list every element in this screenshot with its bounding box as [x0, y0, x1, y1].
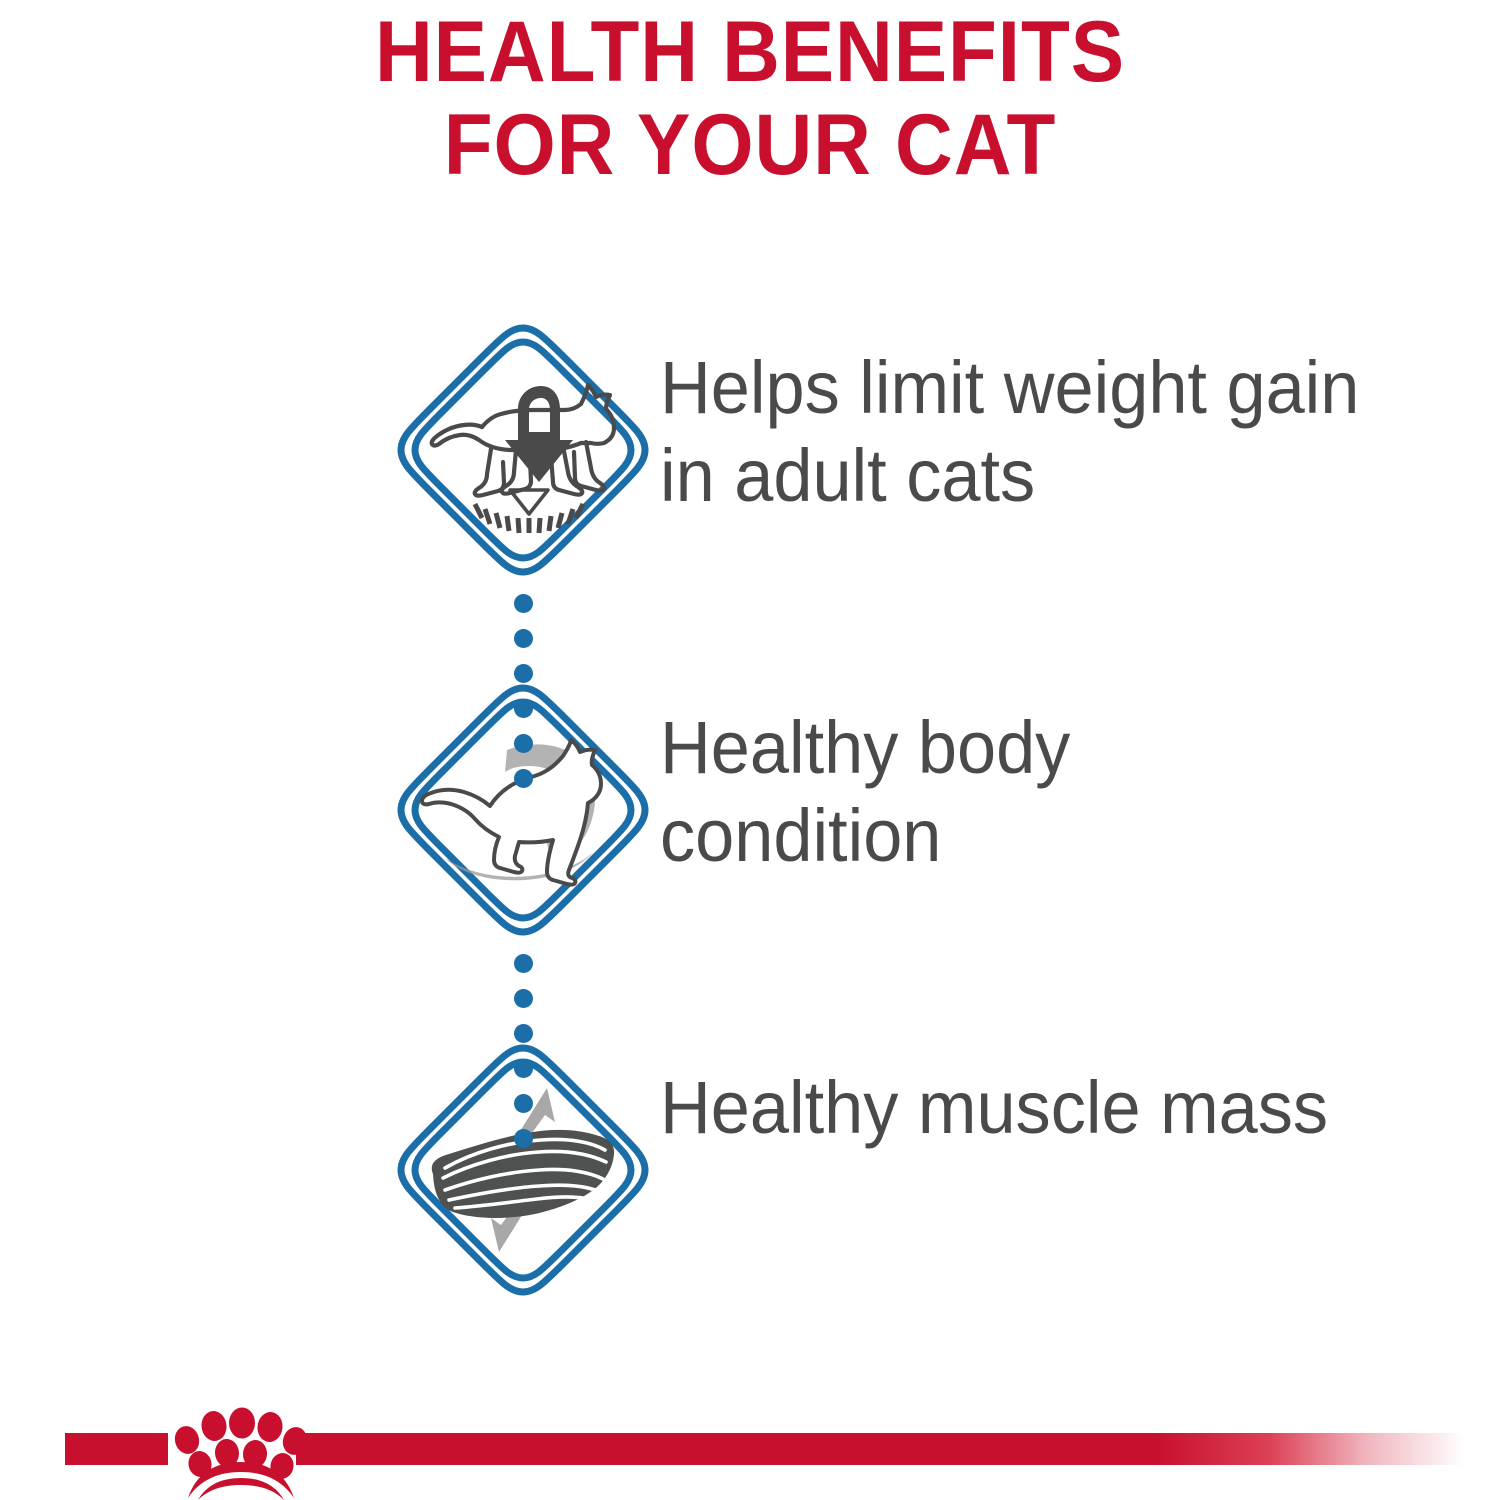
benefit-item: Helps limit weight gain in adult cats	[0, 318, 1500, 678]
footer-brand-strip	[0, 1390, 1500, 1500]
connector-dot	[514, 734, 533, 753]
connector-dot	[514, 769, 533, 788]
benefit-text-column: Helps limit weight gain in adult cats	[660, 318, 1500, 520]
connector-dot	[514, 594, 533, 613]
connector-dot	[514, 989, 533, 1008]
benefit-label: Healthy muscle mass	[660, 1064, 1363, 1152]
page-title: HEALTH BENEFITS FOR YOUR CAT	[0, 6, 1500, 192]
connector-dot	[514, 629, 533, 648]
connector-dot	[514, 954, 533, 973]
connector-dot	[514, 1129, 533, 1148]
connector-dot	[514, 664, 533, 683]
benefit-icon-column	[0, 1038, 660, 1398]
connector-dots	[511, 594, 535, 788]
page-title-line-2: FOR YOUR CAT	[53, 99, 1448, 192]
connector-dot	[514, 699, 533, 718]
benefit-icon-column	[0, 318, 660, 678]
connector-dot	[514, 1024, 533, 1043]
benefit-icon-column	[0, 678, 660, 1038]
benefit-text-column: Healthy body condition	[660, 678, 1500, 880]
benefit-item: Healthy body condition	[0, 678, 1500, 1038]
benefit-item: Healthy muscle mass	[0, 1038, 1500, 1398]
benefit-label: Helps limit weight gain in adult cats	[660, 344, 1363, 520]
connector-dots	[511, 954, 535, 1148]
royal-canin-crown-logo	[162, 1396, 308, 1500]
benefit-label: Healthy body condition	[660, 704, 1363, 880]
poster-canvas: HEALTH BENEFITS FOR YOUR CAT	[0, 0, 1500, 1500]
connector-dot	[514, 1094, 533, 1113]
page-title-line-1: HEALTH BENEFITS	[53, 6, 1448, 99]
connector-dot	[514, 1059, 533, 1078]
benefits-list: Helps limit weight gain in adult cats	[0, 318, 1500, 1398]
benefit-text-column: Healthy muscle mass	[660, 1038, 1500, 1152]
cat-on-scale-weight-down-icon	[395, 322, 651, 578]
